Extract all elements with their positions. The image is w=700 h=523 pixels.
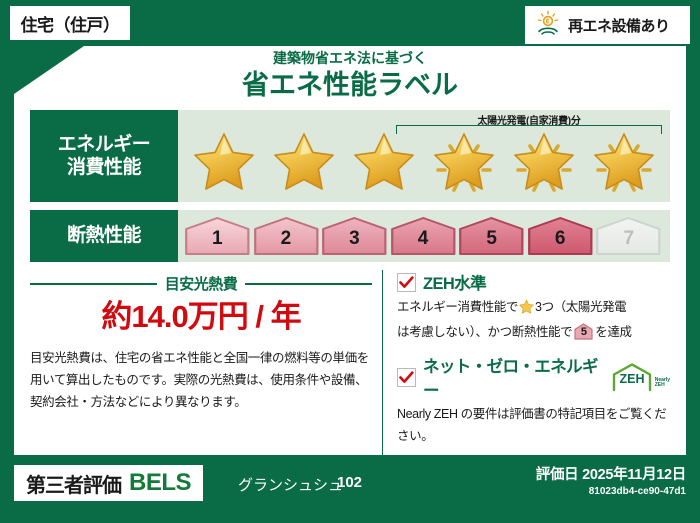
insulation-level-3: 3 [321,216,388,256]
zeh-netzero-checkbox[interactable] [397,368,416,387]
insulation-level-7: 7 [595,216,662,256]
insulation-level-number: 3 [321,216,388,256]
renewable-energy-badge: 再エネ設備あり [525,6,690,44]
property-name: グランシュシュ [238,474,343,495]
zeh-netzero-block: ネット・ゼロ・エネルギー ZEH Nearly ZEH [397,353,670,447]
zeh-netzero-header: ネット・ゼロ・エネルギー ZEH Nearly ZEH [397,353,670,401]
heading-title: 省エネ性能ラベル [14,69,686,103]
inline-star-icon [519,303,534,317]
zeh-standard-block: ZEH水準 エネルギー消費性能で3つ（太陽光発電は考慮しない）、かつ断熱性能で5… [397,270,670,343]
energy-stars-area: 太陽光発電(自家消費)分 [178,110,670,202]
energy-star-6 [590,130,658,196]
zeh-netzero-title: ネット・ゼロ・エネルギー [423,353,603,401]
insulation-level-number: 5 [458,216,525,256]
energy-star-2 [270,130,338,196]
energy-caption-line1: エネルギー [58,133,151,157]
insulation-level-number: 1 [184,216,251,256]
utility-cost-title: 目安光熱費 [165,273,238,294]
energy-performance-caption: エネルギー 消費性能 [30,110,178,202]
utility-cost-note: 目安光熱費は、住宅の省エネ性能と全国一律の燃料等の単価を用いて算出したものです。… [30,348,372,414]
zeh-section: ZEH水準 エネルギー消費性能で3つ（太陽光発電は考慮しない）、かつ断熱性能で5… [382,270,670,457]
zeh-standard-description: エネルギー消費性能で3つ（太陽光発電は考慮しない）、かつ断熱性能で5を達成 [397,297,670,343]
utility-cost-section: 目安光熱費 約14.0万円 / 年 目安光熱費は、住宅の省エネ性能と全国一律の燃… [30,270,382,457]
bels-energy-label: 住宅（住戸） 再エネ設備あり 建築物省エネ法に基づく 省 [0,0,700,523]
evaluation-info: 評価日 2025年11月12日 81023db4-ce90-47d1 [536,463,686,497]
label-footer: 第三者評価 BELS グランシュシュ 102 評価日 2025年11月12日 8… [0,455,700,523]
renewable-energy-label: 再エネ設備あり [568,15,670,36]
house-type-label: 住宅（住戸） [21,11,120,36]
zeh-house-logo-icon: ZEH [610,362,654,392]
zeh-desc-part3: を達成 [595,325,631,339]
inline-insulation-badge: 5 [574,323,593,340]
zeh-desc-part2: は考慮しない）、かつ断熱性能で [397,325,572,339]
insulation-level-number: 2 [253,216,320,256]
insulation-level-number: 6 [527,216,594,256]
insulation-level-number: 4 [390,216,457,256]
insulation-level-5: 5 [458,216,525,256]
insulation-level-number: 7 [595,216,662,256]
energy-star-list [178,130,670,196]
label-heading: 建築物省エネ法に基づく 省エネ性能ラベル [14,46,686,102]
insulation-badges-area: 1234567 [178,210,670,262]
utility-cost-title-row: 目安光熱費 [30,273,372,294]
zeh-standard-checkbox[interactable] [397,273,416,292]
insulation-level-6: 6 [527,216,594,256]
evaluation-date: 評価日 2025年11月12日 [536,463,686,484]
inline-badge-number: 5 [574,323,593,340]
insulation-performance-row: 断熱性能 1234567 [30,210,670,262]
zeh-netzero-description: Nearly ZEH の要件は評価書の特記項目をご覧ください。 [397,404,670,447]
cost-rule-right [245,283,372,285]
energy-star-5 [510,130,578,196]
solar-sun-icon [535,10,561,41]
bels-en-label: BELS [129,469,191,497]
energy-star-3 [350,130,418,196]
evaluation-id: 81023db4-ce90-47d1 [536,486,686,497]
energy-caption-line2: 消費性能 [67,156,141,180]
bels-jp-label: 第三者評価 [26,469,121,498]
bels-certification-box: 第三者評価 BELS [14,465,203,501]
insulation-performance-caption: 断熱性能 [30,210,178,262]
insulation-caption-label: 断熱性能 [67,224,141,248]
label-panel: 建築物省エネ法に基づく 省エネ性能ラベル エネルギー 消費性能 太陽光発電(自家… [14,46,686,455]
energy-star-1 [190,130,258,196]
rating-rows: エネルギー 消費性能 太陽光発電(自家消費)分 断熱性能 1234567 [30,110,670,262]
energy-star-4 [430,130,498,196]
zeh-standard-header: ZEH水準 [397,270,670,294]
house-type-badge: 住宅（住戸） [10,6,130,40]
zeh-desc-star-count: 3つ（太陽光発電 [535,300,626,314]
svg-text:ZEH: ZEH [619,372,644,386]
check-icon [399,276,414,289]
heading-subtitle: 建築物省エネ法に基づく [14,49,686,69]
zeh-desc-part1: エネルギー消費性能で [397,300,518,314]
utility-cost-value: 約14.0万円 / 年 [30,300,372,334]
zeh-logo: ZEH Nearly ZEH [610,362,670,392]
insulation-level-4: 4 [390,216,457,256]
insulation-level-1: 1 [184,216,251,256]
zeh-standard-title: ZEH水準 [423,270,486,294]
zeh-logo-sub2: ZEH [655,383,670,388]
cost-rule-left [30,283,157,285]
energy-performance-row: エネルギー 消費性能 太陽光発電(自家消費)分 [30,110,670,202]
insulation-level-2: 2 [253,216,320,256]
property-unit-number: 102 [337,474,362,491]
check-icon [399,371,414,384]
lower-section: 目安光熱費 約14.0万円 / 年 目安光熱費は、住宅の省エネ性能と全国一律の燃… [30,270,670,457]
insulation-level-list: 1234567 [178,216,670,256]
